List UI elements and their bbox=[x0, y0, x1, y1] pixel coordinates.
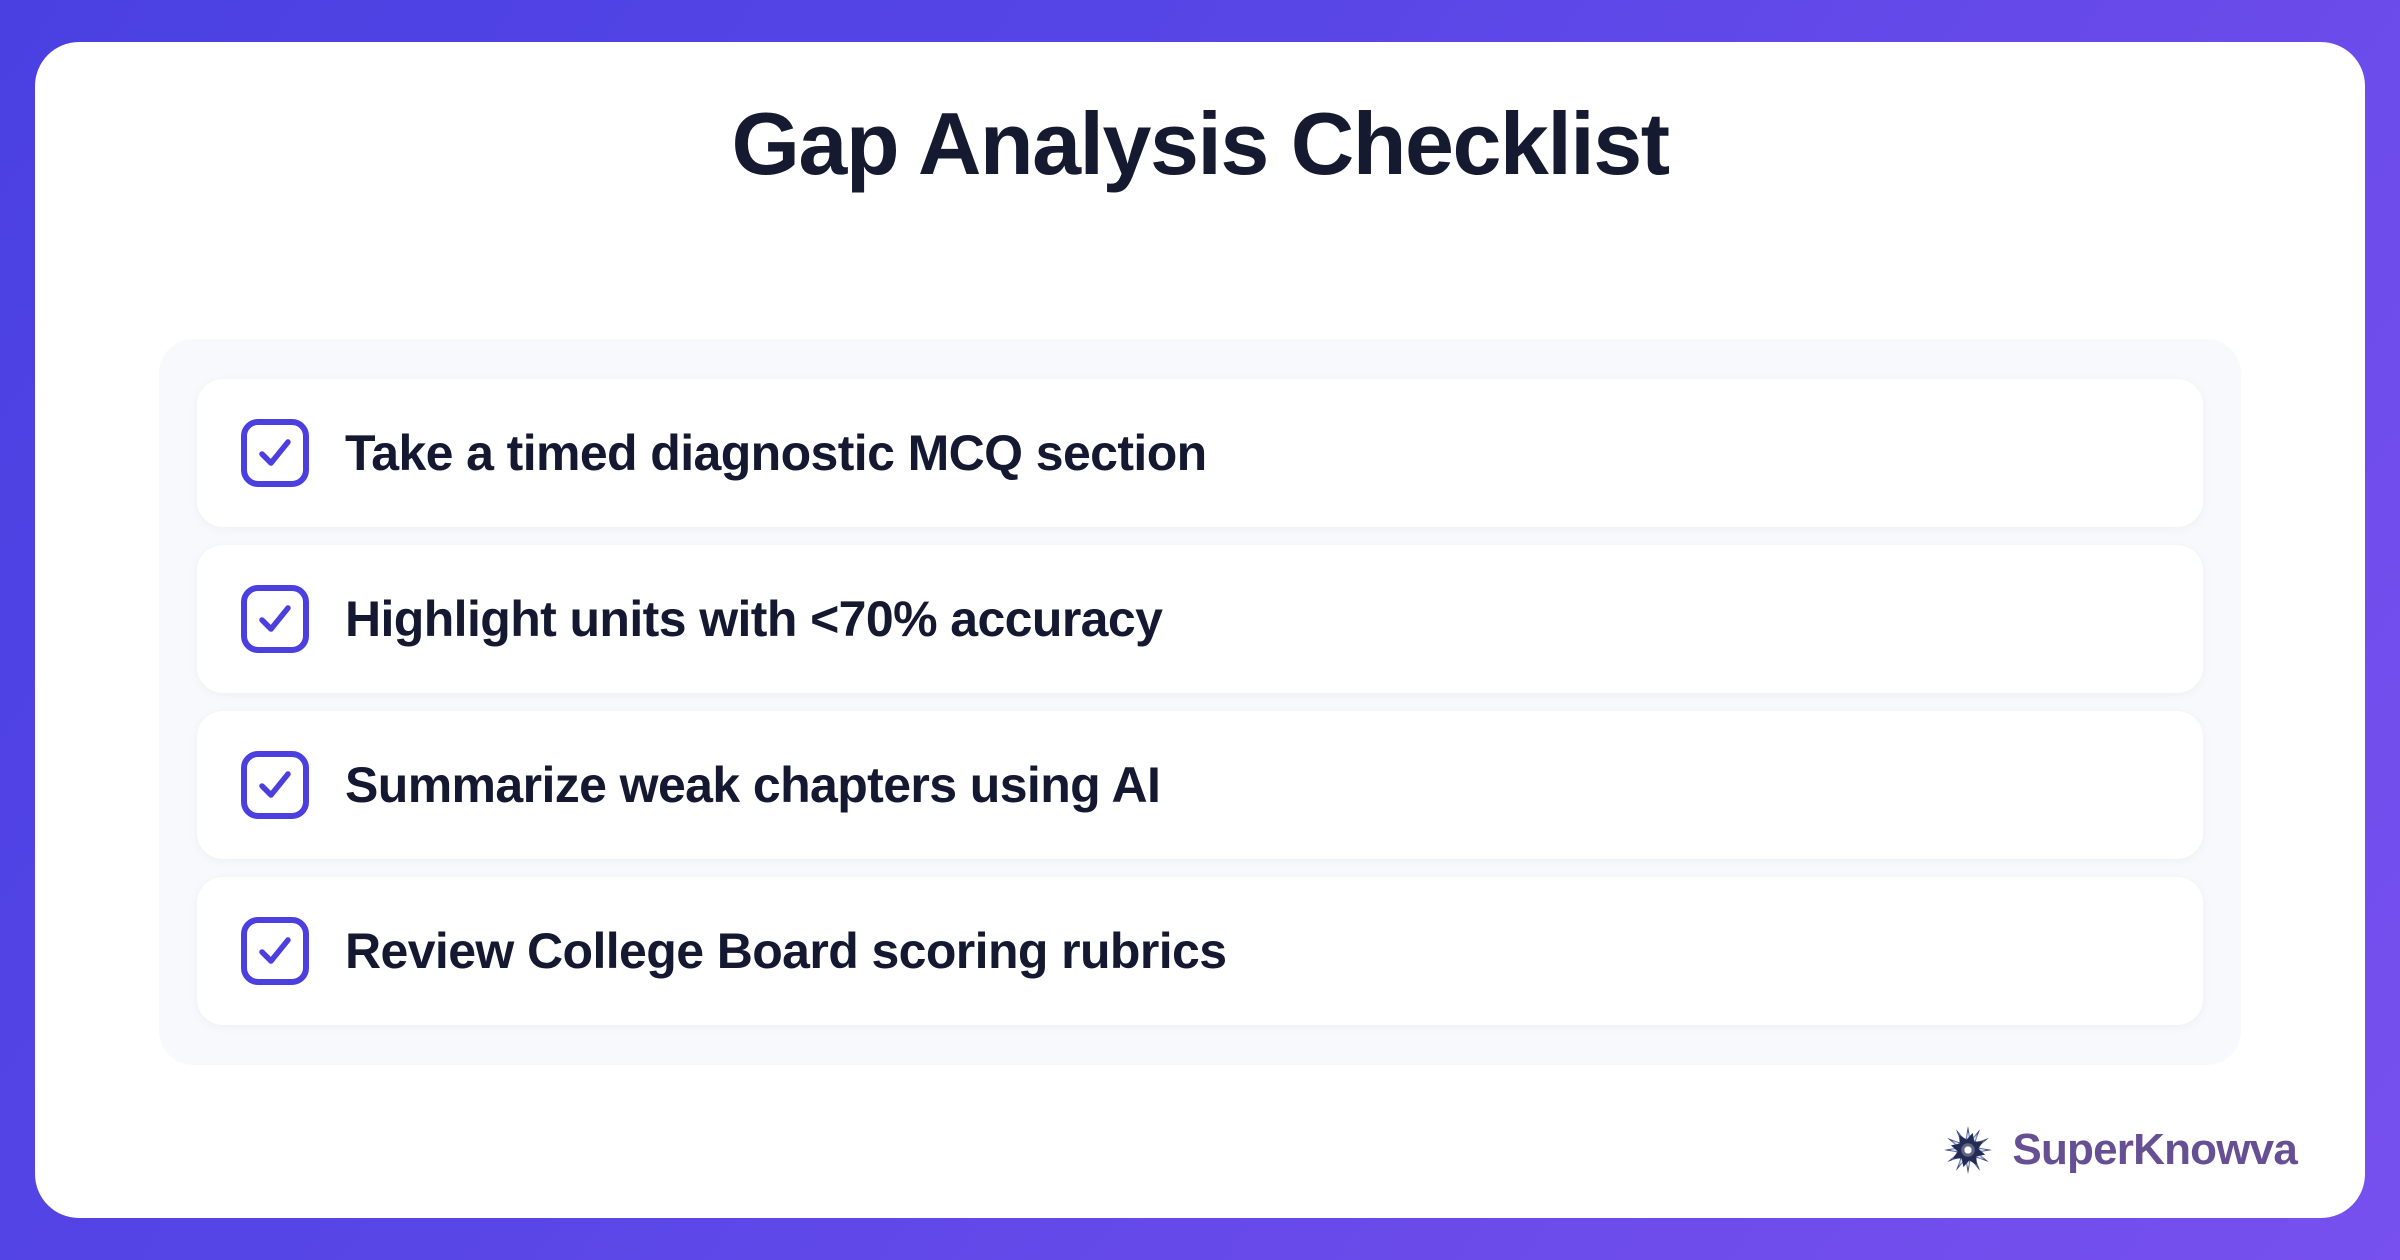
starburst-logo-icon bbox=[1942, 1124, 1994, 1176]
brand-name: SuperKnowva bbox=[2012, 1125, 2297, 1175]
checkbox-checked-icon[interactable] bbox=[241, 419, 309, 487]
list-item-label: Take a timed diagnostic MCQ section bbox=[345, 424, 1207, 482]
page-title: Gap Analysis Checklist bbox=[35, 98, 2365, 190]
checkbox-checked-icon[interactable] bbox=[241, 917, 309, 985]
list-item[interactable]: Summarize weak chapters using AI bbox=[197, 711, 2203, 859]
list-item-label: Review College Board scoring rubrics bbox=[345, 922, 1226, 980]
brand-logo: SuperKnowva bbox=[1942, 1124, 2297, 1176]
list-item[interactable]: Review College Board scoring rubrics bbox=[197, 877, 2203, 1025]
list-item-label: Highlight units with <70% accuracy bbox=[345, 590, 1162, 648]
checkbox-checked-icon[interactable] bbox=[241, 751, 309, 819]
checklist-panel: Take a timed diagnostic MCQ section High… bbox=[159, 339, 2241, 1065]
slide-card: Gap Analysis Checklist Take a timed diag… bbox=[35, 42, 2365, 1218]
list-item[interactable]: Take a timed diagnostic MCQ section bbox=[197, 379, 2203, 527]
list-item-label: Summarize weak chapters using AI bbox=[345, 756, 1160, 814]
list-item[interactable]: Highlight units with <70% accuracy bbox=[197, 545, 2203, 693]
checkbox-checked-icon[interactable] bbox=[241, 585, 309, 653]
